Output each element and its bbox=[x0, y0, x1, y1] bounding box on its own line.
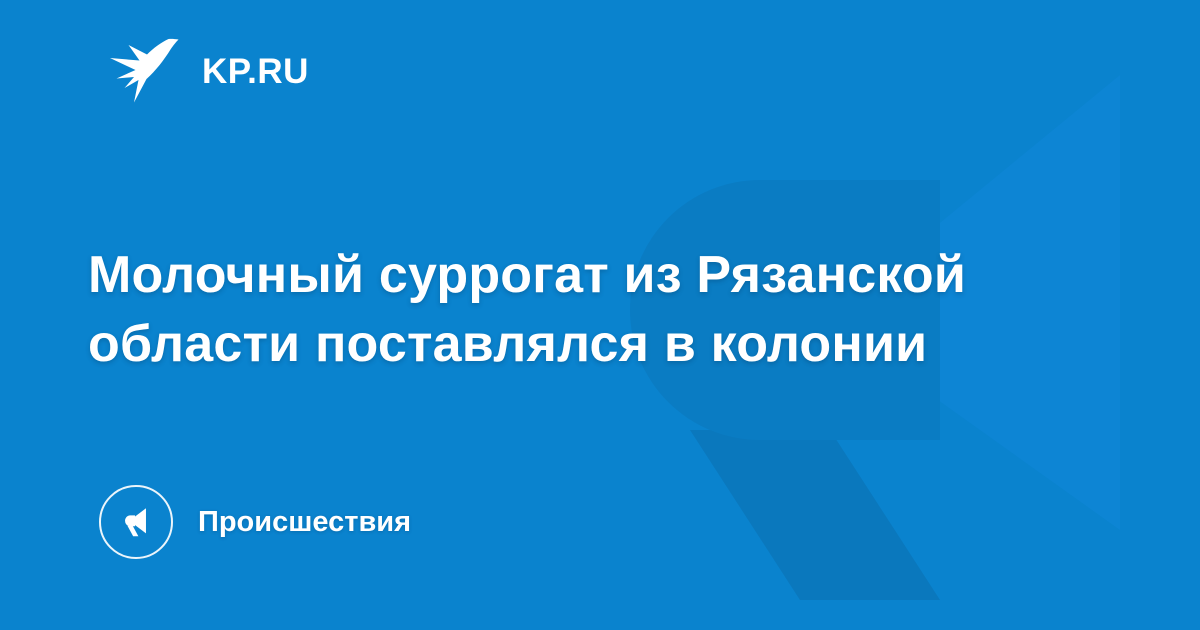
category-icon-circle bbox=[99, 485, 173, 559]
category-badge[interactable]: Происшествия bbox=[99, 485, 411, 559]
category-label: Происшествия bbox=[198, 508, 411, 537]
brand-name: KP.RU bbox=[202, 54, 309, 89]
megaphone-icon bbox=[117, 503, 155, 541]
swallow-bird-logo-icon bbox=[108, 36, 180, 106]
brand-header: KP.RU bbox=[108, 36, 309, 106]
share-card: KP.RU Молочный суррогат из Рязанской обл… bbox=[0, 0, 1200, 630]
page-title: Молочный суррогат из Рязанской области п… bbox=[88, 241, 1098, 379]
